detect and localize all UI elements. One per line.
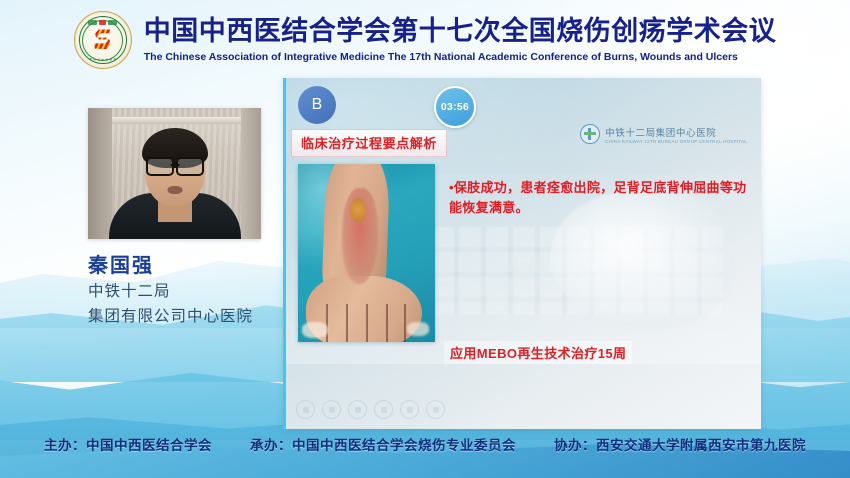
hospital-logo: 中铁十二局集团中心医院 CHINA RAILWAY 12TH BUREAU GR…: [580, 124, 747, 144]
hospital-cross-icon: [580, 124, 600, 144]
slide-player-controls[interactable]: [296, 400, 445, 419]
slide-bullet-text: •保肢成功，患者痊愈出院，足背足底背伸屈曲等功能恢复满意。: [449, 178, 749, 218]
footer-organizer: 承办：中国中西医结合学会烧伤专业委员会: [250, 434, 516, 454]
conference-header: 中国中西医结合学会第十七次全国烧伤创疡学术会议 The Chinese Asso…: [0, 0, 850, 80]
speaker-name: 秦国强: [88, 249, 261, 278]
footer-host: 主办：中国中西医结合学会: [44, 434, 212, 454]
conference-title-en: The Chinese Association of Integrative M…: [144, 51, 738, 63]
conference-title-cn: 中国中西医结合学会第十七次全国烧伤创疡学术会议: [144, 17, 777, 47]
hospital-name-en: CHINA RAILWAY 12TH BUREAU GROUP CENTRAL …: [605, 139, 747, 144]
photo-toe-lines: [320, 302, 414, 342]
slide-section-banner: 临床治疗过程要点解析: [291, 129, 447, 157]
presentation-slide-panel[interactable]: B 03:56 临床治疗过程要点解析 中铁十二局集团中心医院 CHINA RAI…: [283, 78, 761, 429]
speaker-org-line-2: 集团有限公司中心医院: [88, 306, 261, 328]
footer-coorganizer: 协办：西安交通大学附属西安市第九医院: [554, 434, 806, 454]
clinical-photo: [298, 164, 435, 342]
association-emblem-icon: [74, 11, 132, 69]
presenter-avatar[interactable]: B: [298, 86, 336, 124]
grid-icon[interactable]: [374, 400, 393, 419]
zoom-icon[interactable]: [400, 400, 419, 419]
speaker-video-feed[interactable]: [88, 108, 261, 239]
footer-credits: 主办：中国中西医结合学会 承办：中国中西医结合学会烧伤专业委员会 协办：西安交通…: [0, 434, 850, 454]
pen-icon[interactable]: [348, 400, 367, 419]
header-text-block: 中国中西医结合学会第十七次全国烧伤创疡学术会议 The Chinese Asso…: [144, 17, 777, 63]
previous-icon[interactable]: [296, 400, 315, 419]
refresh-icon[interactable]: [426, 400, 445, 419]
speaker-panel: 秦国强 中铁十二局 集团有限公司中心医院: [88, 108, 261, 329]
session-timer: 03:56: [434, 86, 476, 128]
play-icon[interactable]: [322, 400, 341, 419]
slide-photo-caption: 应用MEBO再生技术治疗15周: [444, 341, 632, 364]
speaker-org-line-1: 中铁十二局: [88, 281, 261, 303]
conference-broadcast-screen: 中国中西医结合学会第十七次全国烧伤创疡学术会议 The Chinese Asso…: [0, 0, 850, 478]
hospital-name-cn: 中铁十二局集团中心医院: [605, 125, 747, 139]
